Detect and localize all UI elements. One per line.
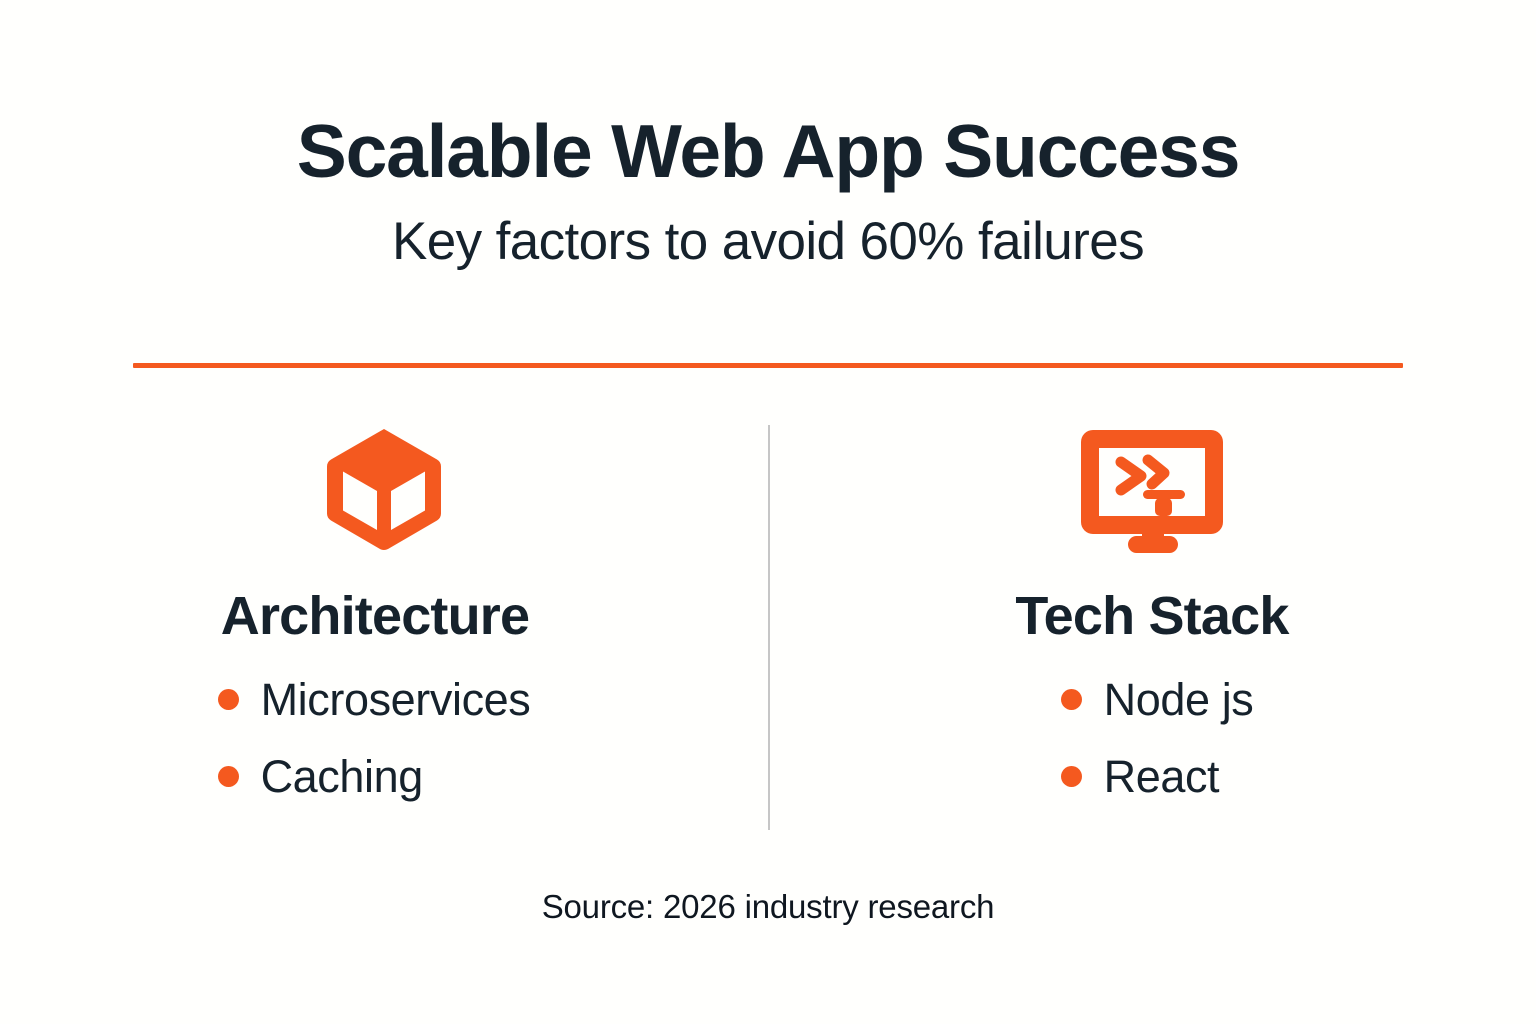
column-tech-stack: Tech Stack Node js React [768, 425, 1536, 835]
accent-divider [133, 363, 1403, 368]
bullet-dot-icon [218, 689, 239, 710]
bullet-label: React [1104, 754, 1220, 799]
monitor-terminal-icon [1076, 425, 1228, 555]
cube-icon [324, 425, 444, 555]
list-item: Caching [218, 754, 531, 799]
bullet-dot-icon [1061, 766, 1082, 787]
bullet-dot-icon [1061, 689, 1082, 710]
list-item: Microservices [218, 677, 531, 722]
bullet-label: Microservices [261, 677, 531, 722]
column-heading-architecture: Architecture [221, 589, 530, 643]
page-title: Scalable Web App Success [0, 112, 1536, 190]
bullet-list-architecture: Microservices Caching [218, 677, 531, 799]
column-architecture: Architecture Microservices Caching [0, 425, 768, 835]
list-item: React [1061, 754, 1254, 799]
source-note: Source: 2026 industry research [0, 888, 1536, 926]
bullet-label: Node js [1104, 677, 1254, 722]
bullet-dot-icon [218, 766, 239, 787]
column-heading-tech-stack: Tech Stack [1015, 589, 1288, 643]
page-subtitle: Key factors to avoid 60% failures [0, 212, 1536, 271]
header: Scalable Web App Success Key factors to … [0, 112, 1536, 271]
columns-container: Architecture Microservices Caching [0, 425, 1536, 835]
bullet-label: Caching [261, 754, 423, 799]
bullet-list-tech-stack: Node js React [1061, 677, 1254, 799]
infographic-slide: Scalable Web App Success Key factors to … [0, 0, 1536, 1024]
list-item: Node js [1061, 677, 1254, 722]
